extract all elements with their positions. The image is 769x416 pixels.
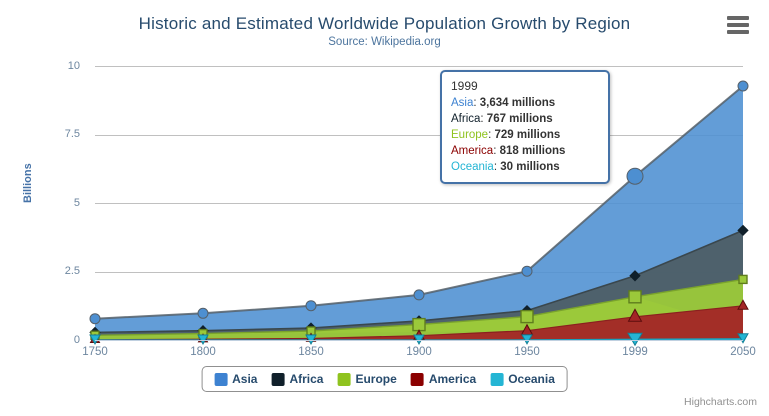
y-tick-label-2-5: 2.5 — [25, 265, 80, 277]
point-europe-1950[interactable] — [521, 311, 533, 323]
legend-label-asia: Asia — [232, 372, 257, 386]
point-asia-1850[interactable] — [306, 301, 316, 311]
tooltip-row-america: America: 818 millions — [451, 143, 599, 159]
y-tick-label-0: 0 — [25, 334, 80, 346]
y-tick-label-10: 10 — [25, 60, 80, 72]
legend-swatch-europe — [337, 373, 350, 386]
point-asia-1800[interactable] — [198, 308, 208, 318]
x-tick-label-1850: 1850 — [281, 346, 341, 358]
tooltip-name-europe: Europe — [451, 129, 488, 141]
legend-item-america[interactable]: America — [411, 372, 476, 386]
highcharts-container: Historic and Estimated Worldwide Populat… — [0, 0, 769, 416]
highcharts-credits[interactable]: Highcharts.com — [684, 396, 757, 408]
legend-swatch-africa — [271, 373, 284, 386]
tooltip-value-africa: 767 millions — [487, 113, 553, 125]
tooltip-value-europe: 729 millions — [494, 129, 560, 141]
point-asia-1750[interactable] — [90, 314, 100, 324]
point-asia-2050[interactable] — [738, 81, 748, 91]
x-axis-line — [95, 340, 743, 341]
legend-label-oceania: Oceania — [508, 372, 555, 386]
legend-item-africa[interactable]: Africa — [271, 372, 323, 386]
chart-title: Historic and Estimated Worldwide Populat… — [0, 14, 769, 34]
legend-swatch-america — [411, 373, 424, 386]
tooltip-name-america: America — [451, 145, 493, 157]
chart-subtitle: Source: Wikipedia.org — [0, 36, 769, 48]
point-asia-1900[interactable] — [414, 290, 424, 300]
x-tick-label-1900: 1900 — [389, 346, 449, 358]
x-tick-label-1800: 1800 — [173, 346, 233, 358]
legend-swatch-oceania — [490, 373, 503, 386]
legend-item-europe[interactable]: Europe — [337, 372, 396, 386]
legend-swatch-asia — [214, 373, 227, 386]
x-tick-label-1999: 1999 — [605, 346, 665, 358]
menu-bar-2 — [727, 23, 749, 27]
legend-label-africa: Africa — [289, 372, 323, 386]
point-asia-1950[interactable] — [522, 266, 532, 276]
x-tick-label-2050: 2050 — [713, 346, 769, 358]
tooltip-name-africa: Africa — [451, 113, 480, 125]
point-europe-2050[interactable] — [739, 275, 747, 283]
tooltip-row-europe: Europe: 729 millions — [451, 127, 599, 143]
legend-item-oceania[interactable]: Oceania — [490, 372, 555, 386]
tooltip-value-oceania: 30 millions — [500, 161, 559, 173]
x-tick-label-1750: 1750 — [65, 346, 125, 358]
tooltip-row-oceania: Oceania: 30 millions — [451, 159, 599, 175]
chart-tooltip: 1999 Asia: 3,634 millions Africa: 767 mi… — [440, 70, 610, 184]
hamburger-menu-icon[interactable] — [727, 16, 749, 34]
tooltip-value-asia: 3,634 millions — [480, 97, 555, 109]
tooltip-header: 1999 — [451, 78, 599, 95]
y-tick-label-5: 5 — [25, 197, 80, 209]
plot-area — [95, 66, 743, 340]
legend-label-europe: Europe — [355, 372, 396, 386]
tooltip-row-africa: Africa: 767 millions — [451, 111, 599, 127]
tooltip-value-america: 818 millions — [500, 145, 566, 157]
point-asia-1999[interactable] — [627, 168, 643, 184]
menu-bar-3 — [727, 30, 749, 34]
tooltip-name-oceania: Oceania — [451, 161, 494, 173]
y-tick-label-7-5: 7.5 — [25, 128, 80, 140]
series-graphics — [95, 66, 743, 340]
menu-bar-1 — [727, 16, 749, 20]
point-europe-1999[interactable] — [629, 291, 641, 303]
tooltip-name-asia: Asia — [451, 97, 473, 109]
point-europe-1900[interactable] — [413, 319, 425, 331]
x-tick-label-1950: 1950 — [497, 346, 557, 358]
tooltip-row-asia: Asia: 3,634 millions — [451, 95, 599, 111]
chart-legend: Asia Africa Europe America Oceania — [201, 366, 568, 392]
legend-item-asia[interactable]: Asia — [214, 372, 257, 386]
legend-label-america: America — [429, 372, 476, 386]
